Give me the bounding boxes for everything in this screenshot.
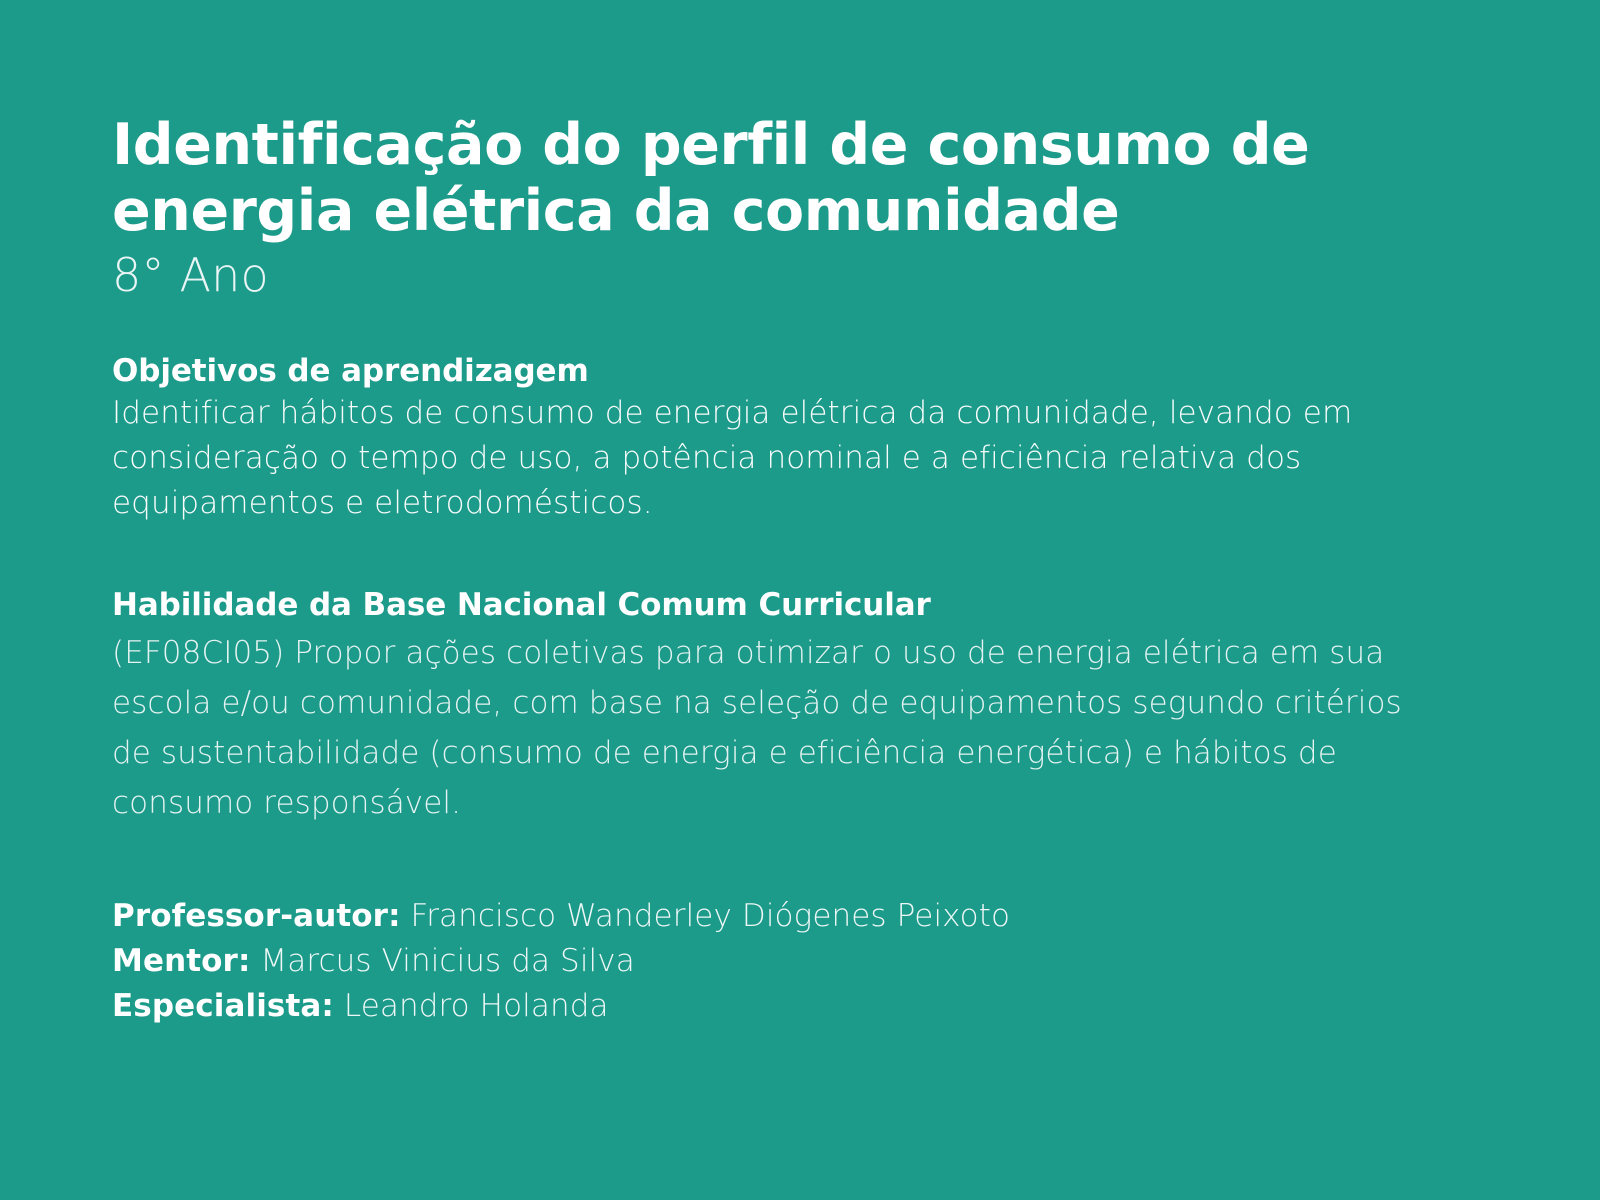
credit-label: Mentor: [112,943,250,979]
page-title: Identificação do perfil de consumo de en… [112,112,1472,244]
bncc-skill-heading: Habilidade da Base Nacional Comum Curric… [112,586,1488,625]
credits-section: Professor-autor: Francisco Wanderley Dió… [112,894,1488,1029]
learning-objectives-body: Identificar hábitos de consumo de energi… [112,391,1372,526]
credit-value: Francisco Wanderley Diógenes Peixoto [411,898,1011,934]
bncc-skill-section: Habilidade da Base Nacional Comum Curric… [112,586,1488,828]
slide-root: Identificação do perfil de consumo de en… [0,0,1600,1200]
credit-label: Especialista: [112,988,334,1024]
bncc-skill-body: (EF08CI05) Propor ações coletivas para o… [112,628,1432,828]
credit-value: Leandro Holanda [344,988,609,1024]
learning-objectives-section: Objetivos de aprendizagem Identificar há… [112,352,1488,526]
credit-line-professor-autor: Professor-autor: Francisco Wanderley Dió… [112,894,1488,939]
credit-label: Professor-autor: [112,898,401,934]
page-subtitle-grade: 8° Ano [112,248,1488,303]
credit-line-especialista: Especialista: Leandro Holanda [112,984,1488,1029]
title-block: Identificação do perfil de consumo de en… [112,112,1488,303]
credit-value: Marcus Vinicius da Silva [260,943,634,979]
credit-line-mentor: Mentor: Marcus Vinicius da Silva [112,939,1488,984]
learning-objectives-heading: Objetivos de aprendizagem [112,352,1488,391]
